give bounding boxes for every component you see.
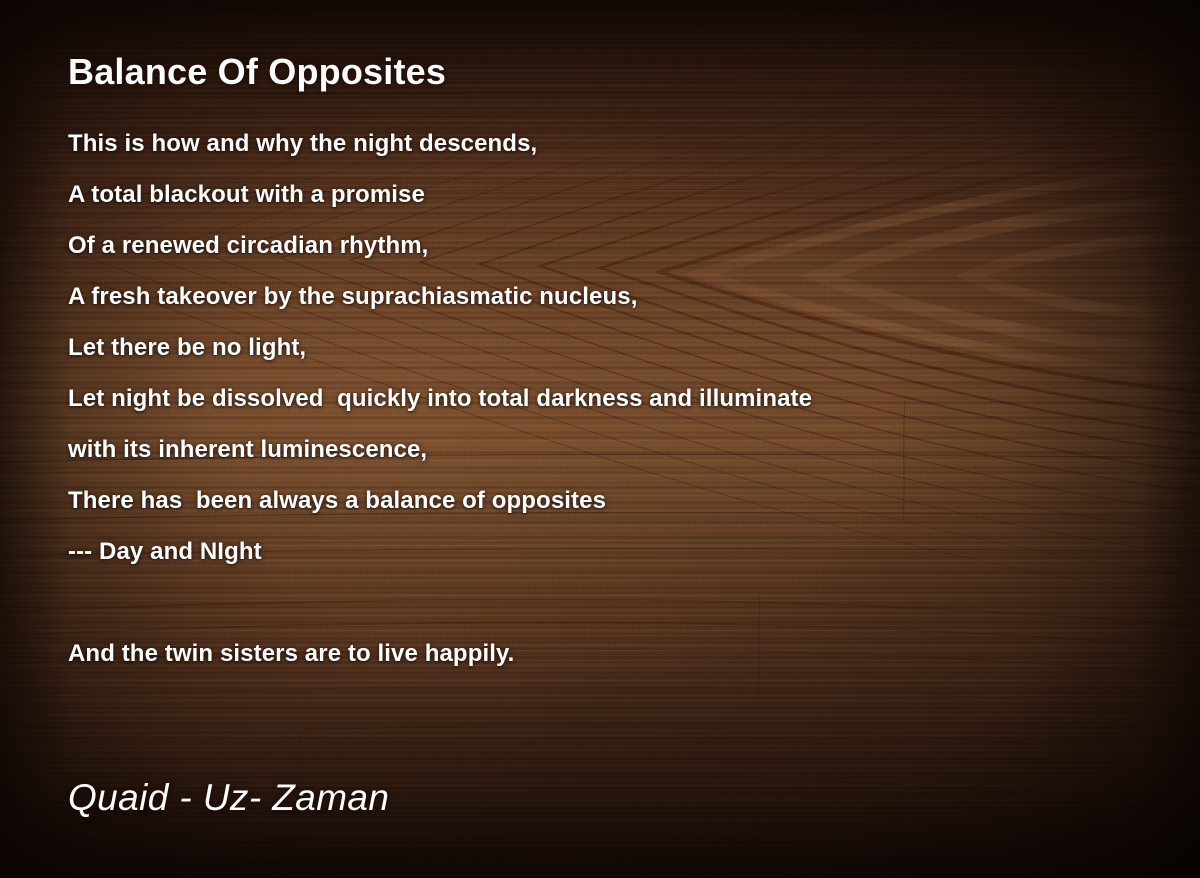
poem-line: A fresh takeover by the suprachiasmatic … xyxy=(68,271,1160,322)
poem-line: Let there be no light, xyxy=(68,322,1160,373)
poem-line: There has been always a balance of oppos… xyxy=(68,475,1160,526)
poem-line: And the twin sisters are to live happily… xyxy=(68,628,1160,679)
poem-line: A total blackout with a promise xyxy=(68,169,1160,220)
poem-line: --- Day and NIght xyxy=(68,526,1160,577)
poem-text-block: Balance Of Opposites This is how and why… xyxy=(68,0,1160,679)
poem-line-blank xyxy=(68,577,1160,628)
poem-line: with its inherent luminescence, xyxy=(68,424,1160,475)
poem-title: Balance Of Opposites xyxy=(68,0,1160,94)
poem-body: This is how and why the night descends, … xyxy=(68,94,1160,679)
poem-line: This is how and why the night descends, xyxy=(68,118,1160,169)
poem-author-signature: Quaid - Uz- Zaman xyxy=(68,777,389,819)
poem-line: Let night be dissolved quickly into tota… xyxy=(68,373,1160,424)
poem-image-card: Balance Of Opposites This is how and why… xyxy=(0,0,1200,878)
poem-line: Of a renewed circadian rhythm, xyxy=(68,220,1160,271)
